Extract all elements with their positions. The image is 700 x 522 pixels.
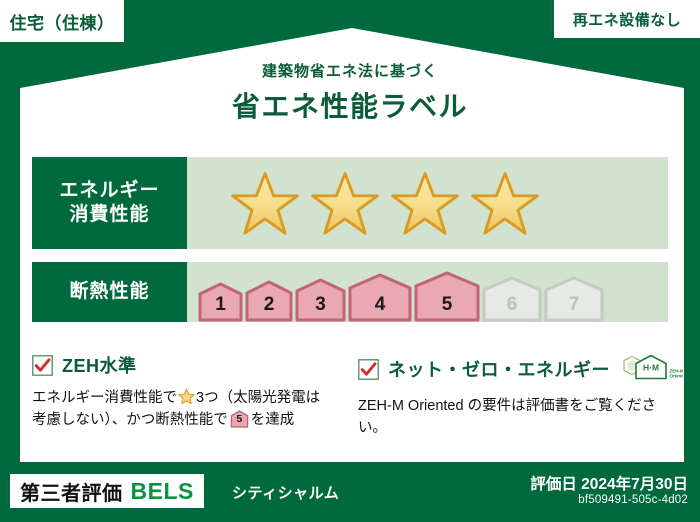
inline-star-icon xyxy=(178,388,195,405)
tag-building-type: 住宅（住棟） xyxy=(0,0,124,42)
tag-building-type-label: 住宅（住棟） xyxy=(10,9,115,34)
zeh-m-logo-caption1: ZEH-M xyxy=(670,369,684,374)
star-icon xyxy=(309,168,381,238)
page-title: 建築物省エネ法に基づく 省エネ性能ラベル xyxy=(0,60,700,125)
tag-renewable-energy-label: 再エネ設備なし xyxy=(573,9,682,30)
inline-grade-value: 5 xyxy=(230,411,249,427)
star-icon xyxy=(389,168,461,238)
grade-value: 7 xyxy=(543,294,605,316)
checkbox-checked-icon xyxy=(32,355,53,376)
note-zeh-level-title: ZEH水準 xyxy=(62,352,137,378)
insulation-grade-scale: 1234567 xyxy=(187,262,668,322)
bels-certification-badge: 第三者評価 BELS xyxy=(10,474,204,508)
star-icon xyxy=(229,168,301,238)
insulation-grade-6: 6 xyxy=(481,276,543,322)
title-subtitle: 建築物省エネ法に基づく xyxy=(0,60,700,81)
zeh-m-logo-caption2: Oriented xyxy=(670,374,684,379)
note-zeh-level-header: ZEH水準 xyxy=(32,352,332,378)
note-zeh-level-body-part3: を達成 xyxy=(251,412,295,428)
note-net-zero-energy: ネット・ゼロ・エネルギー H·M ZEH-M Oriented ZEH-M Or… xyxy=(358,352,674,440)
energy-performance-label: エネルギー 消費性能 xyxy=(32,157,187,249)
evaluation-id: bf509491-505c-4d02 xyxy=(578,494,688,506)
bels-jp-label: 第三者評価 xyxy=(20,477,123,506)
zeh-m-oriented-logo-icon: H·M ZEH-M Oriented xyxy=(623,352,683,386)
insulation-grade-3: 3 xyxy=(294,278,347,322)
grade-value: 3 xyxy=(294,294,347,316)
note-net-zero-energy-header: ネット・ゼロ・エネルギー H·M ZEH-M Oriented xyxy=(358,352,674,386)
insulation-grade-1: 1 xyxy=(197,282,244,322)
grade-value: 6 xyxy=(481,294,543,316)
star-rating xyxy=(187,157,668,249)
grade-value: 1 xyxy=(197,294,244,316)
note-net-zero-energy-title: ネット・ゼロ・エネルギー xyxy=(388,356,610,382)
grade-value: 5 xyxy=(413,294,481,316)
property-name: シティシャルム xyxy=(232,482,339,503)
insulation-grade-5: 5 xyxy=(413,271,481,322)
insulation-grade-2: 2 xyxy=(244,280,294,322)
insulation-grade-4: 4 xyxy=(347,273,413,322)
evaluation-date: 評価日 2024年7月30日 xyxy=(530,472,688,494)
note-zeh-level-body-part1: エネルギー消費性能で xyxy=(32,390,177,406)
footer: 第三者評価 BELS シティシャルム 評価日 2024年7月30日 bf5094… xyxy=(0,466,700,522)
bels-en-label: BELS xyxy=(131,478,194,505)
energy-performance-row: エネルギー 消費性能 xyxy=(32,157,668,249)
insulation-performance-row: 断熱性能 1234567 xyxy=(32,262,668,322)
star-icon xyxy=(469,168,541,238)
energy-performance-label-line1: エネルギー xyxy=(59,179,159,203)
energy-performance-label-line2: 消費性能 xyxy=(69,203,149,227)
inline-grade-badge: 5 xyxy=(230,410,249,428)
insulation-performance-panel: 1234567 xyxy=(187,262,668,322)
zeh-m-logo-text: H·M xyxy=(643,363,659,373)
note-zeh-level: ZEH水準 エネルギー消費性能で3つ（太陽光発電は考慮しない）、かつ断熱性能で5… xyxy=(32,352,332,432)
tag-renewable-energy: 再エネ設備なし xyxy=(554,0,700,38)
bels-energy-label: 住宅（住棟） 再エネ設備なし 建築物省エネ法に基づく 省エネ性能ラベル エネルギ… xyxy=(0,0,700,522)
grade-value: 2 xyxy=(244,294,294,316)
title-main: 省エネ性能ラベル xyxy=(0,85,700,125)
energy-performance-panel xyxy=(187,157,668,249)
insulation-performance-label: 断熱性能 xyxy=(32,262,187,322)
grade-value: 4 xyxy=(347,294,413,316)
note-net-zero-energy-body: ZEH-M Oriented の要件は評価書をご覧ください。 xyxy=(358,395,674,440)
insulation-performance-label-line1: 断熱性能 xyxy=(69,280,149,304)
checkbox-checked-icon xyxy=(358,359,379,380)
insulation-grade-7: 7 xyxy=(543,276,605,322)
note-zeh-level-body: エネルギー消費性能で3つ（太陽光発電は考慮しない）、かつ断熱性能で5を達成 xyxy=(32,387,332,432)
